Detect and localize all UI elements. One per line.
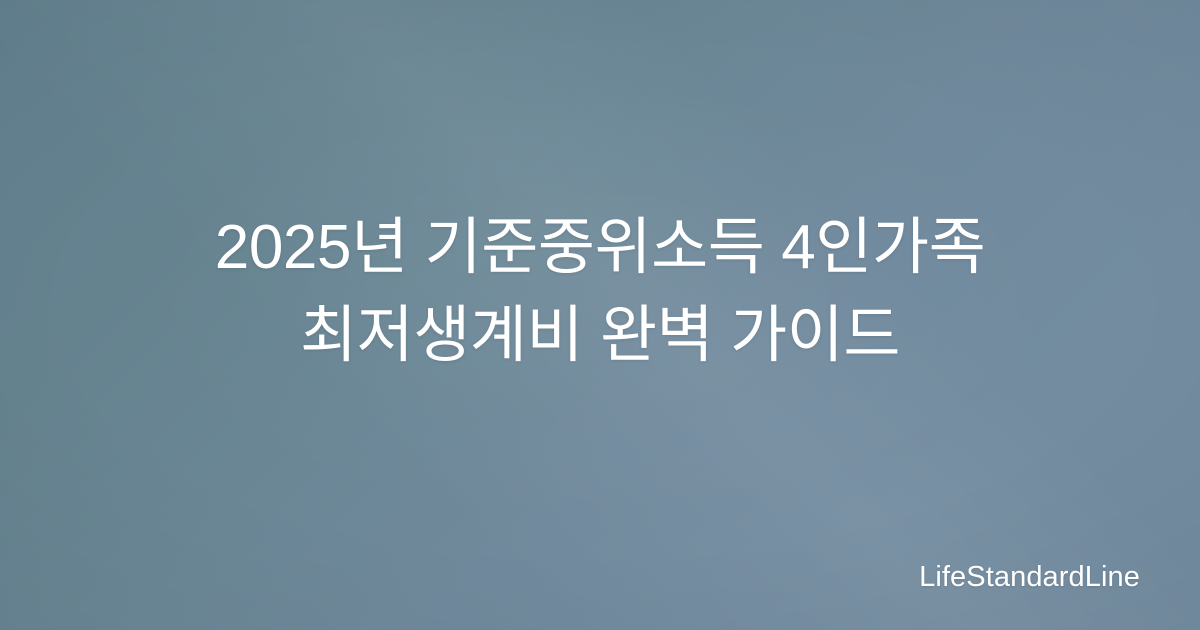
page-title: 2025년 기준중위소득 4인가족 최저생계비 완벽 가이드 — [100, 204, 1100, 380]
title-container: 2025년 기준중위소득 4인가족 최저생계비 완벽 가이드 — [0, 0, 1200, 630]
og-image-card: 2025년 기준중위소득 4인가족 최저생계비 완벽 가이드 LifeStand… — [0, 0, 1200, 630]
brand-watermark: LifeStandardLine — [919, 562, 1140, 594]
